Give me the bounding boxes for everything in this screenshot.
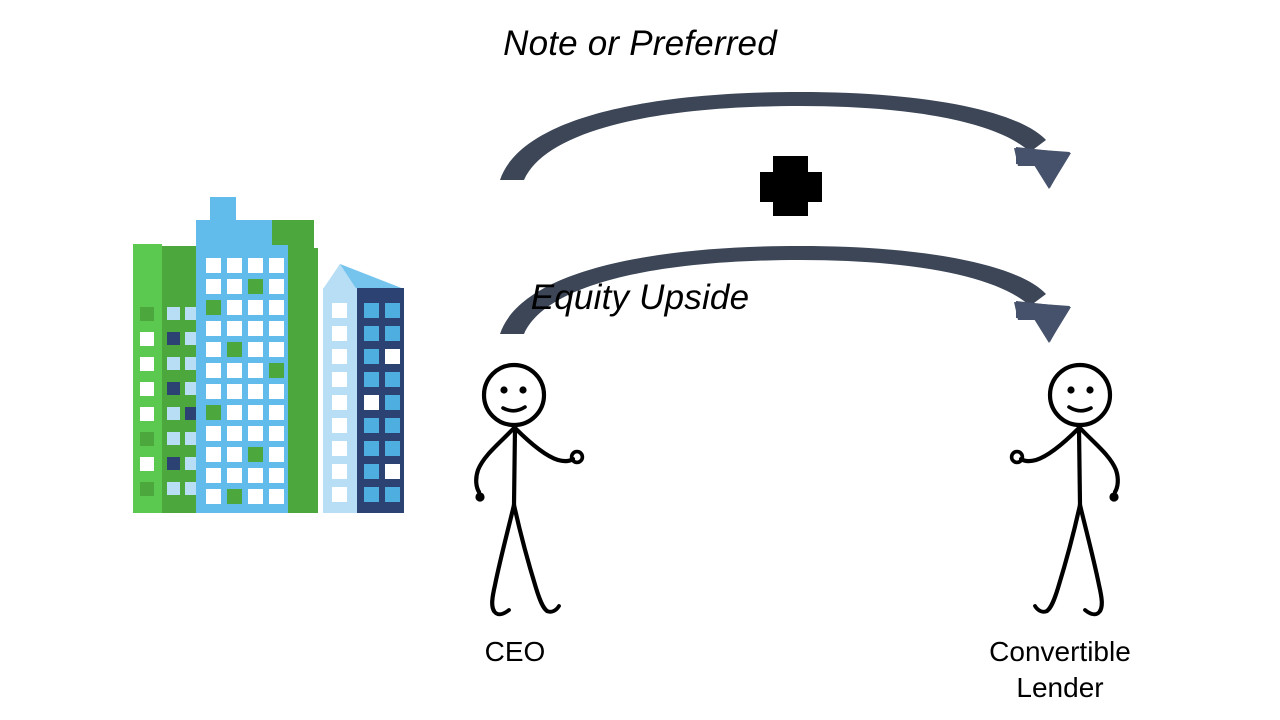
stick-figures-layer bbox=[0, 0, 1280, 720]
lender-eye-left bbox=[1067, 386, 1074, 393]
lender-mouth bbox=[1069, 407, 1091, 411]
arrow-label-note-or-preferred: Note or Preferred bbox=[0, 24, 1280, 64]
ceo-leg-right bbox=[514, 505, 547, 611]
lender-eye-right bbox=[1086, 386, 1093, 393]
stick-figure-ceo bbox=[475, 365, 582, 614]
ceo-arm-left bbox=[476, 428, 514, 492]
stick-figure-lender bbox=[1012, 365, 1119, 614]
actor-label-ceo: CEO bbox=[395, 634, 635, 670]
ceo-torso bbox=[514, 428, 515, 505]
ceo-eye-right bbox=[519, 386, 526, 393]
lender-arm-right bbox=[1080, 428, 1118, 492]
ceo-hand-left bbox=[475, 492, 484, 501]
arrow-label-equity-upside: Equity Upside bbox=[0, 278, 1280, 318]
lender-leg-left bbox=[1047, 505, 1080, 611]
ceo-mouth bbox=[503, 407, 525, 411]
ceo-foot-right bbox=[547, 606, 559, 612]
diagram-canvas: Note or Preferred Equity Upside CEO Conv… bbox=[0, 0, 1280, 720]
ceo-arm-right bbox=[515, 428, 573, 461]
lender-foot-left bbox=[1035, 606, 1047, 612]
lender-head bbox=[1050, 365, 1110, 425]
lender-arm-left bbox=[1021, 428, 1079, 461]
lender-leg-right bbox=[1080, 505, 1102, 611]
ceo-foot-left bbox=[494, 610, 509, 614]
ceo-eye-left bbox=[500, 386, 507, 393]
ceo-hand-right bbox=[572, 452, 583, 463]
ceo-head bbox=[484, 365, 544, 425]
lender-torso bbox=[1079, 428, 1080, 505]
actor-label-convertible-lender: Convertible Lender bbox=[940, 634, 1180, 706]
ceo-leg-left bbox=[492, 505, 514, 611]
lender-foot-right bbox=[1085, 610, 1100, 614]
lender-hand-right bbox=[1109, 492, 1118, 501]
lender-hand-left bbox=[1012, 452, 1023, 463]
